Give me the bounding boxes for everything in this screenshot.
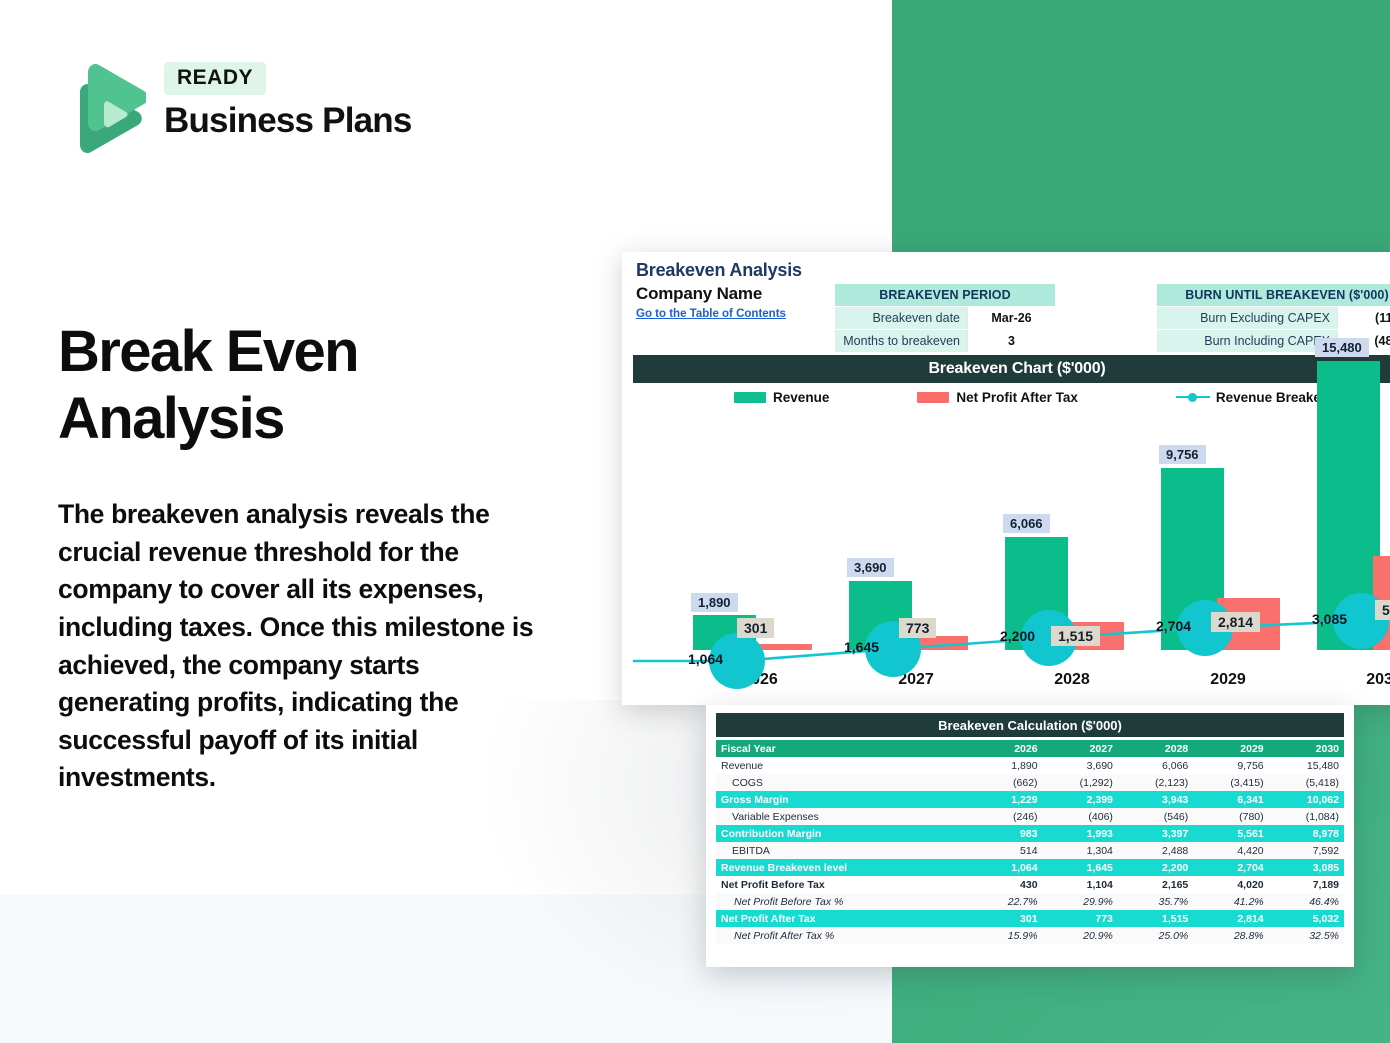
table-row: EBITDA5141,3042,4884,4207,592 — [716, 842, 1344, 859]
row-value: 7,189 — [1269, 876, 1344, 893]
breakeven-label-2029: 2,704 — [1156, 618, 1191, 634]
row-label: Net Profit After Tax — [716, 910, 967, 927]
bar-label-revenue: 3,690 — [847, 558, 894, 577]
page-title: Break Even Analysis — [58, 318, 528, 453]
row-value: 28.8% — [1193, 927, 1268, 944]
kpi-row-burn-excluding-capex: Burn Excluding CAPEX (11.0) — [1157, 307, 1390, 330]
row-value: 41.2% — [1193, 893, 1268, 910]
chart-title-banner: Breakeven Chart ($'000) — [633, 355, 1390, 383]
table-of-contents-link[interactable]: Go to the Table of Contents — [636, 308, 786, 320]
kpi-label: Burn Excluding CAPEX — [1157, 307, 1337, 329]
row-value: 1,064 — [967, 859, 1042, 876]
col-header-2028: 2028 — [1118, 740, 1193, 757]
legend-label: Net Profit After Tax — [956, 390, 1078, 405]
kpi-breakeven-period-header: BREAKEVEN PERIOD — [835, 284, 1055, 307]
row-label: Revenue — [716, 757, 967, 774]
bar-label-net-profit-after-tax: 301 — [737, 618, 774, 638]
row-value: (1,292) — [1043, 774, 1118, 791]
row-value: 7,592 — [1269, 842, 1344, 859]
kpi-row-breakeven-date: Breakeven date Mar-26 — [835, 307, 1055, 330]
row-value: 2,488 — [1118, 842, 1193, 859]
row-value: 3,085 — [1269, 859, 1344, 876]
kpi-label: Breakeven date — [835, 307, 967, 329]
row-value: 2,814 — [1193, 910, 1268, 927]
legend-swatch-icon — [917, 392, 949, 403]
bar-label-revenue: 15,480 — [1315, 338, 1369, 357]
table-row: Contribution Margin9831,9933,3975,5618,9… — [716, 825, 1344, 842]
row-value: 2,704 — [1193, 859, 1268, 876]
row-value: 35.7% — [1118, 893, 1193, 910]
table-row: Revenue Breakeven level1,0641,6452,2002,… — [716, 859, 1344, 876]
bar-label-net-profit-after-tax: 2,814 — [1211, 612, 1260, 632]
kpi-value[interactable]: 3 — [967, 330, 1055, 352]
row-value: 29.9% — [1043, 893, 1118, 910]
col-header-2029: 2029 — [1193, 740, 1268, 757]
row-value: 8,978 — [1269, 825, 1344, 842]
kpi-breakeven-period: BREAKEVEN PERIOD Breakeven date Mar-26 M… — [835, 284, 1055, 352]
row-value: 2,399 — [1043, 791, 1118, 808]
row-value: (780) — [1193, 808, 1268, 825]
kpi-value[interactable]: Mar-26 — [967, 307, 1055, 329]
breakeven-label-2027: 1,645 — [844, 639, 879, 655]
table-row: Variable Expenses(246)(406)(546)(780)(1,… — [716, 808, 1344, 825]
calc-table-title: Breakeven Calculation ($'000) — [716, 713, 1344, 737]
row-value: 46.4% — [1269, 893, 1344, 910]
row-value: 22.7% — [967, 893, 1042, 910]
row-value: 32.5% — [1269, 927, 1344, 944]
row-value: 15.9% — [967, 927, 1042, 944]
x-axis-label-2030: 2030 — [1309, 671, 1390, 689]
row-value: (2,123) — [1118, 774, 1193, 791]
sheet-company-name: Company Name — [636, 284, 762, 304]
background-green-top — [892, 0, 1390, 252]
row-label: Variable Expenses — [716, 808, 967, 825]
row-label: Gross Margin — [716, 791, 967, 808]
row-value: 1,890 — [967, 757, 1042, 774]
row-label: COGS — [716, 774, 967, 791]
play-triangle-logo-icon — [60, 60, 146, 164]
row-label: Contribution Margin — [716, 825, 967, 842]
bar-label-net-profit-after-tax: 773 — [899, 618, 936, 638]
breakeven-label-2030: 3,085 — [1312, 611, 1347, 627]
row-value: 301 — [967, 910, 1042, 927]
kpi-row-months-to-breakeven: Months to breakeven 3 — [835, 330, 1055, 352]
x-axis-label-2027: 2027 — [841, 671, 991, 689]
breakeven-chart-card: Breakeven Analysis Company Name Go to th… — [622, 252, 1390, 705]
row-value: 983 — [967, 825, 1042, 842]
row-value: 4,420 — [1193, 842, 1268, 859]
row-value: 10,062 — [1269, 791, 1344, 808]
col-header-2027: 2027 — [1043, 740, 1118, 757]
row-value: 6,341 — [1193, 791, 1268, 808]
chart-legend: Revenue Net Profit After Tax Revenue Bre… — [633, 384, 1390, 410]
table-row: Net Profit After Tax %15.9%20.9%25.0%28.… — [716, 927, 1344, 944]
row-value: 25.0% — [1118, 927, 1193, 944]
row-value: 9,756 — [1193, 757, 1268, 774]
brand-logo: READY Business Plans — [60, 58, 460, 168]
row-value: 2,165 — [1118, 876, 1193, 893]
breakeven-label-2026: 1,064 — [688, 651, 723, 667]
legend-item-net-profit-after-tax[interactable]: Net Profit After Tax — [917, 390, 1078, 405]
x-axis-label-2028: 2028 — [997, 671, 1147, 689]
row-value: 1,645 — [1043, 859, 1118, 876]
row-value: 3,690 — [1043, 757, 1118, 774]
bar-label-net-profit-after-tax: 1,515 — [1051, 626, 1100, 646]
table-row: Net Profit Before Tax4301,1042,1654,0207… — [716, 876, 1344, 893]
row-value: 1,515 — [1118, 910, 1193, 927]
row-value: 5,561 — [1193, 825, 1268, 842]
breakeven-label-2028: 2,200 — [1000, 628, 1035, 644]
brand-name: Business Plans — [164, 101, 412, 141]
row-label: Net Profit Before Tax — [716, 876, 967, 893]
row-value: 1,993 — [1043, 825, 1118, 842]
row-value: 15,480 — [1269, 757, 1344, 774]
sheet-title: Breakeven Analysis — [636, 260, 802, 281]
calc-table-body: Revenue1,8903,6906,0669,75615,480COGS(66… — [716, 757, 1344, 944]
legend-item-revenue[interactable]: Revenue — [734, 390, 829, 405]
calc-table-header-row: Fiscal Year 2026 2027 2028 2029 2030 — [716, 740, 1344, 757]
table-row: Net Profit Before Tax %22.7%29.9%35.7%41… — [716, 893, 1344, 910]
kpi-value[interactable]: (11.0) — [1337, 307, 1390, 329]
brand-logo-text: READY Business Plans — [164, 62, 412, 141]
row-value: 5,032 — [1269, 910, 1344, 927]
table-row: Net Profit After Tax3017731,5152,8145,03… — [716, 910, 1344, 927]
row-value: 1,229 — [967, 791, 1042, 808]
row-label: Revenue Breakeven level — [716, 859, 967, 876]
row-value: 1,304 — [1043, 842, 1118, 859]
table-row: Revenue1,8903,6906,0669,75615,480 — [716, 757, 1344, 774]
row-value: 3,397 — [1118, 825, 1193, 842]
row-value: (246) — [967, 808, 1042, 825]
row-value: (662) — [967, 774, 1042, 791]
legend-swatch-icon — [734, 392, 766, 403]
table-row: Gross Margin1,2292,3993,9436,34110,062 — [716, 791, 1344, 808]
kpi-label: Burn Including CAPEX — [1157, 330, 1337, 352]
row-label: EBITDA — [716, 842, 967, 859]
legend-label: Revenue — [773, 390, 829, 405]
row-value: 3,943 — [1118, 791, 1193, 808]
kpi-burn-header: BURN UNTIL BREAKEVEN ($'000) — [1157, 284, 1390, 307]
bar-label-revenue: 1,890 — [691, 593, 738, 612]
col-header-fiscal-year: Fiscal Year — [716, 740, 967, 757]
row-value: (1,084) — [1269, 808, 1344, 825]
row-value: 4,020 — [1193, 876, 1268, 893]
row-value: 20.9% — [1043, 927, 1118, 944]
calc-table: Fiscal Year 2026 2027 2028 2029 2030 Rev… — [716, 740, 1344, 944]
row-value: (3,415) — [1193, 774, 1268, 791]
row-label: Net Profit Before Tax % — [716, 893, 967, 910]
ready-badge: READY — [164, 62, 266, 95]
row-value: 2,200 — [1118, 859, 1193, 876]
row-value: 1,104 — [1043, 876, 1118, 893]
row-label: Net Profit After Tax % — [716, 927, 967, 944]
kpi-label: Months to breakeven — [835, 330, 967, 352]
row-value: 773 — [1043, 910, 1118, 927]
legend-line-marker-icon — [1176, 392, 1210, 403]
bar-label-revenue: 6,066 — [1003, 514, 1050, 533]
row-value: (546) — [1118, 808, 1193, 825]
row-value: (406) — [1043, 808, 1118, 825]
row-value: 514 — [967, 842, 1042, 859]
bar-label-net-profit-after-tax: 5,032 — [1375, 600, 1390, 620]
x-axis-label-2029: 2029 — [1153, 671, 1303, 689]
row-value: 6,066 — [1118, 757, 1193, 774]
row-value: 430 — [967, 876, 1042, 893]
chart-plot-area: 1,890 301 3,690 773 6,066 1,51 — [633, 412, 1390, 697]
row-value: (5,418) — [1269, 774, 1344, 791]
breakeven-calculation-card: Breakeven Calculation ($'000) Fiscal Yea… — [706, 705, 1354, 967]
slide-root: READY Business Plans Break Even Analysis… — [0, 0, 1390, 1043]
table-row: COGS(662)(1,292)(2,123)(3,415)(5,418) — [716, 774, 1344, 791]
col-header-2030: 2030 — [1269, 740, 1344, 757]
col-header-2026: 2026 — [967, 740, 1042, 757]
bar-label-revenue: 9,756 — [1159, 445, 1206, 464]
page-body-text: The breakeven analysis reveals the cruci… — [58, 496, 550, 797]
